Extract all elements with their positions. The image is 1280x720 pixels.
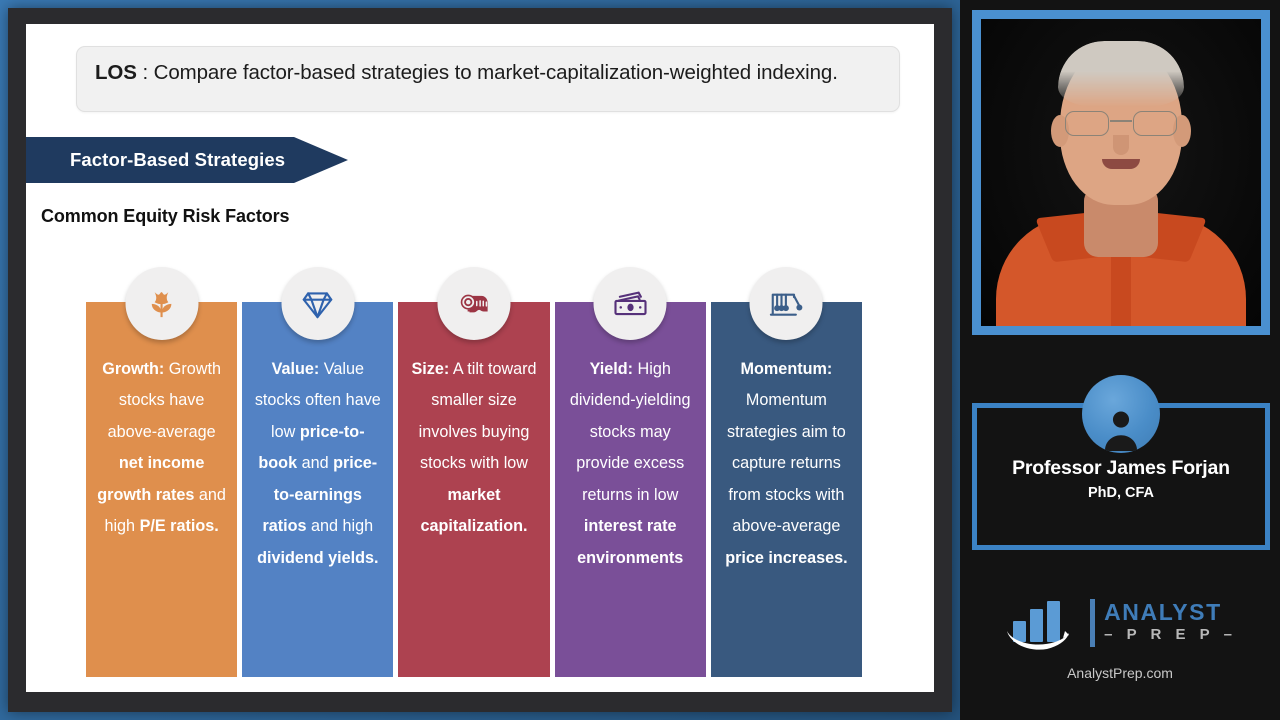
right-panel: Professor James Forjan PhD, CFA ANALYST …	[960, 0, 1280, 720]
measuring-tape-icon	[438, 267, 511, 340]
slide-canvas: LOS : Compare factor-based strategies to…	[26, 24, 934, 692]
logo-divider	[1090, 599, 1095, 647]
presenter-mouth	[1102, 159, 1140, 169]
tulip-icon	[125, 267, 198, 340]
bar-chart-swoosh-logo-icon	[1003, 595, 1081, 651]
presenter-card: Professor James Forjan PhD, CFA	[972, 375, 1270, 550]
factor-title-size: Size:	[411, 360, 449, 378]
person-avatar-icon	[1082, 375, 1160, 453]
factor-column-yield: Yield: High dividend-yielding stocks may…	[555, 302, 706, 677]
learning-objective-box: LOS : Compare factor-based strategies to…	[76, 46, 900, 112]
presenter-glasses	[1063, 111, 1179, 136]
brand-logo-block[interactable]: ANALYST – P R E P – AnalystPrep.com	[960, 595, 1280, 681]
factor-text-growth: Growth: Growth stocks have above-average…	[96, 354, 227, 543]
factor-body-part: P/E ratios.	[140, 517, 219, 535]
factor-body-part: dividend yields.	[257, 549, 378, 567]
factor-title-yield: Yield:	[590, 360, 633, 378]
factor-text-size: Size: A tilt toward smaller size involve…	[408, 354, 539, 543]
newtons-cradle-icon	[750, 267, 823, 340]
slide-frame: LOS : Compare factor-based strategies to…	[8, 8, 952, 712]
factor-body-part: interest rate environments	[577, 517, 683, 566]
presenter-credentials: PhD, CFA	[972, 485, 1270, 501]
factor-body-part: High dividend-yielding stocks may provid…	[570, 360, 691, 504]
page-title: Common Equity Risk Factors	[41, 206, 289, 227]
factor-body-part: net income growth rates	[97, 454, 204, 503]
factor-title-growth: Growth:	[102, 360, 164, 378]
logo-primary-text: ANALYST	[1104, 601, 1237, 624]
section-banner-label: Factor-Based Strategies	[26, 149, 285, 171]
factor-title-value: Value:	[272, 360, 320, 378]
logo-secondary-text: – P R E P –	[1104, 624, 1237, 646]
section-banner: Factor-Based Strategies	[26, 137, 348, 183]
factor-title-momentum: Momentum:	[741, 360, 833, 378]
presenter-video-frame[interactable]	[972, 10, 1270, 335]
factor-body-part: market capitalization.	[420, 486, 527, 535]
factor-column-growth: Growth: Growth stocks have above-average…	[86, 302, 237, 677]
presenter-video-feed[interactable]	[981, 19, 1261, 326]
factor-text-yield: Yield: High dividend-yielding stocks may…	[565, 354, 696, 574]
presenter-nose	[1113, 135, 1129, 155]
los-label: LOS	[95, 61, 137, 84]
presenter-hair	[1058, 41, 1184, 107]
los-text: Compare factor-based strategies to marke…	[154, 61, 838, 84]
factor-column-size: Size: A tilt toward smaller size involve…	[398, 302, 549, 677]
factor-columns: Growth: Growth stocks have above-average…	[86, 302, 862, 677]
banknotes-icon	[594, 267, 667, 340]
brand-url[interactable]: AnalystPrep.com	[960, 665, 1280, 681]
factor-body-part: and	[297, 454, 333, 472]
factor-text-momentum: Momentum: Momentum strategies aim to cap…	[721, 354, 852, 574]
factor-body-part: Momentum strategies aim to capture retur…	[727, 391, 846, 535]
factor-body-part: and high	[307, 517, 374, 535]
factor-body-part: price increases.	[725, 549, 847, 567]
diamond-icon	[281, 267, 354, 340]
presenter-name: Professor James Forjan	[972, 457, 1270, 480]
slide-region: LOS : Compare factor-based strategies to…	[0, 0, 960, 720]
factor-column-value: Value: Value stocks often have low price…	[242, 302, 393, 677]
factor-column-momentum: Momentum: Momentum strategies aim to cap…	[711, 302, 862, 677]
factor-text-value: Value: Value stocks often have low price…	[252, 354, 383, 574]
los-separator: :	[137, 61, 154, 84]
